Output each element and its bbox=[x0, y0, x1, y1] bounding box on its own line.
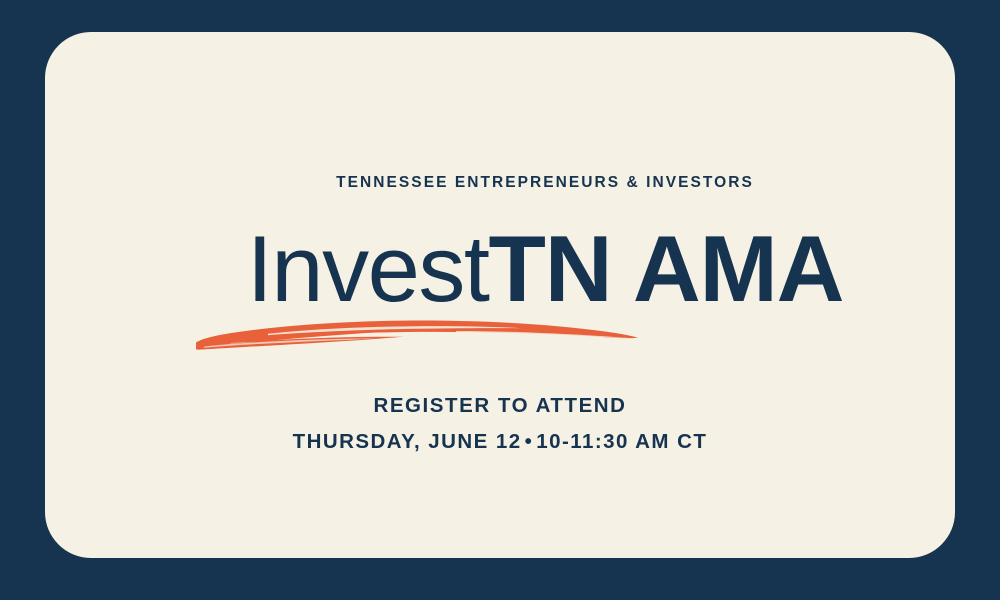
page-title: InvestTN AMA bbox=[45, 222, 1000, 316]
event-card: TENNESSEE ENTREPRENEURS & INVESTORS Inve… bbox=[45, 32, 955, 558]
cta-register-label: REGISTER TO ATTEND bbox=[0, 396, 1000, 417]
registration-details: REGISTER TO ATTEND THURSDAY, JUNE 12•10-… bbox=[0, 396, 1000, 452]
event-datetime: THURSDAY, JUNE 12•10-11:30 AM CT bbox=[0, 432, 1000, 453]
page-title-part-light: Invest bbox=[247, 216, 489, 321]
brush-stroke-swoosh-icon bbox=[190, 312, 640, 354]
page-title-part-bold: TN AMA bbox=[488, 216, 843, 321]
eyebrow-audience-label: TENNESSEE ENTREPRENEURS & INVESTORS bbox=[45, 175, 1000, 191]
bullet-separator-icon: • bbox=[522, 430, 537, 453]
event-date: THURSDAY, JUNE 12 bbox=[293, 430, 522, 453]
poster-canvas: TENNESSEE ENTREPRENEURS & INVESTORS Inve… bbox=[0, 0, 1000, 600]
event-time: 10-11:30 AM CT bbox=[536, 430, 707, 453]
